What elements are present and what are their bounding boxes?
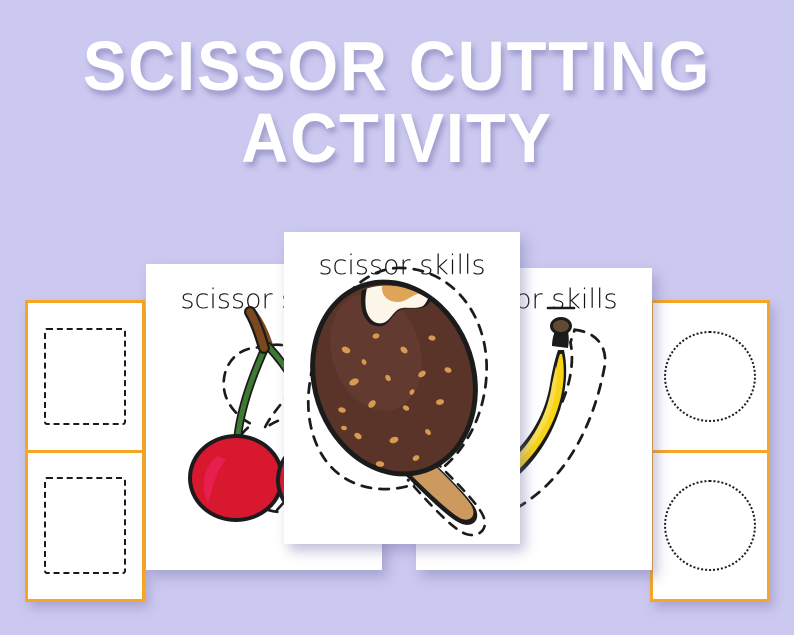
- icecream-illustration: [284, 232, 520, 544]
- worksheet-cell: [653, 450, 767, 600]
- cut-shape-square: [44, 328, 126, 425]
- worksheet-cell: [28, 303, 142, 450]
- flashcard-icecream: scissor skills: [284, 232, 520, 544]
- page-title: SCISSOR CUTTING ACTIVITY: [0, 30, 794, 174]
- poster-canvas: SCISSOR CUTTING ACTIVITY scissor skills: [0, 0, 794, 635]
- worksheet-left-squares: [25, 300, 145, 602]
- cut-shape-square: [44, 477, 126, 574]
- cut-shape-circle: [664, 331, 755, 422]
- title-line-1: SCISSOR CUTTING: [28, 30, 766, 102]
- worksheet-cell: [28, 450, 142, 600]
- worksheet-right-circles: [650, 300, 770, 602]
- title-line-2: ACTIVITY: [28, 102, 766, 174]
- worksheet-cell: [653, 303, 767, 450]
- cut-shape-circle: [664, 480, 755, 571]
